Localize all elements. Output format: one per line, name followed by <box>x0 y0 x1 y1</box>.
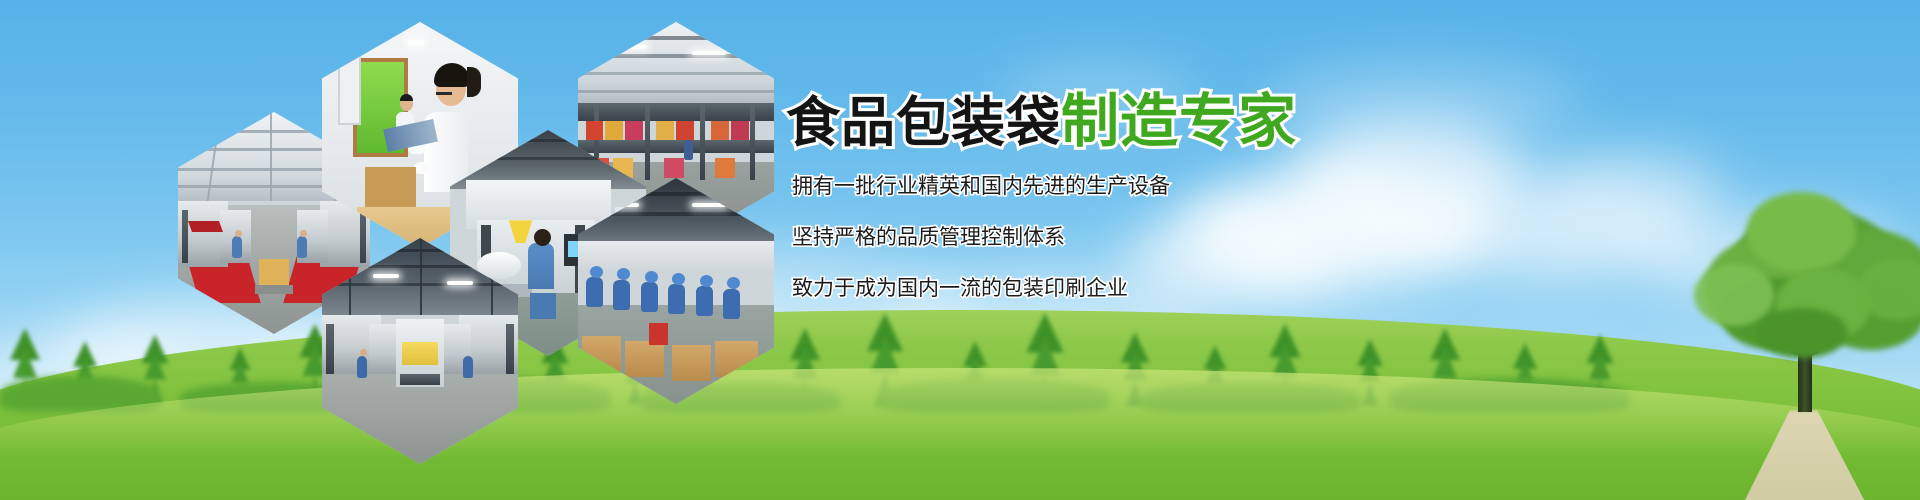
hero-banner: 食品包装袋制造专家 拥有一批行业精英和国内先进的生产设备 坚持严格的品质管理控制… <box>0 0 1920 500</box>
subtitle-line-1: 拥有一批行业精英和国内先进的生产设备 <box>792 176 1426 197</box>
banner-text-block: 食品包装袋制造专家 拥有一批行业精英和国内先进的生产设备 坚持严格的品质管理控制… <box>786 92 1426 299</box>
page-title: 食品包装袋制造专家 <box>786 92 1426 150</box>
headline-green-part: 制造专家 <box>1061 87 1297 155</box>
subtitle-line-3: 致力于成为国内一流的包装印刷企业 <box>792 278 1426 299</box>
subtitle-line-2: 坚持严格的品质管理控制体系 <box>792 227 1426 248</box>
headline-dark-part: 食品包装袋 <box>786 91 1061 154</box>
subtitle-list: 拥有一批行业精英和国内先进的生产设备 坚持严格的品质管理控制体系 致力于成为国内… <box>792 176 1426 299</box>
